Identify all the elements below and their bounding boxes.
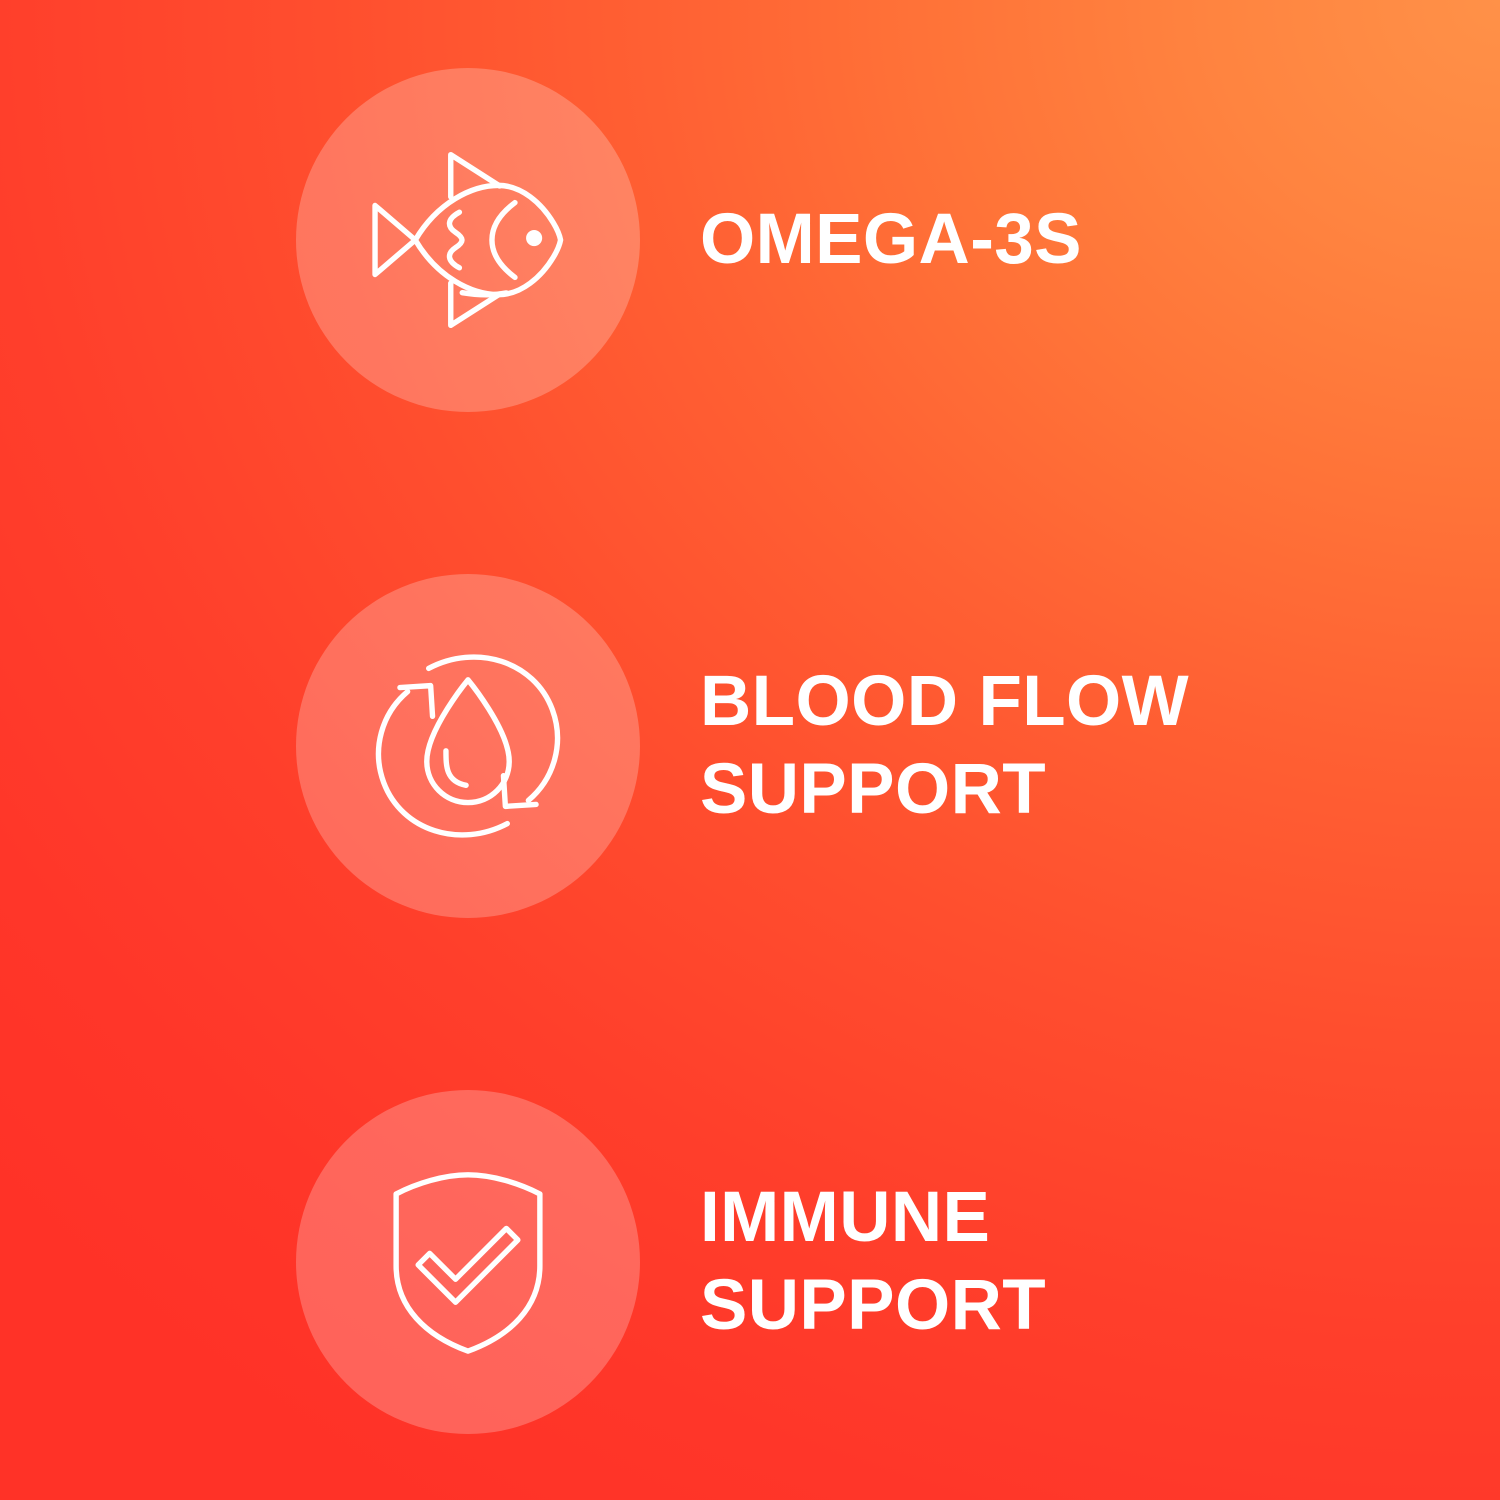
benefit-label-immune-support: IMMUNE SUPPORT	[700, 1174, 1046, 1350]
blood-drop-cycle-icon	[353, 631, 583, 861]
benefit-item-immune-support: IMMUNE SUPPORT	[0, 1090, 1500, 1434]
benefit-label-omega-3s: OMEGA-3S	[700, 196, 1082, 284]
icon-badge-blood-flow-support	[296, 574, 640, 918]
benefit-label-blood-flow-support: BLOOD FLOW SUPPORT	[700, 658, 1189, 834]
benefits-panel: OMEGA-3S BLOOD FLOW SUPPORT	[0, 0, 1500, 1500]
icon-badge-omega-3s	[296, 68, 640, 412]
fish-icon	[353, 125, 583, 355]
benefit-item-omega-3s: OMEGA-3S	[0, 68, 1500, 412]
shield-check-icon	[353, 1147, 583, 1377]
icon-badge-immune-support	[296, 1090, 640, 1434]
benefit-item-blood-flow-support: BLOOD FLOW SUPPORT	[0, 574, 1500, 918]
